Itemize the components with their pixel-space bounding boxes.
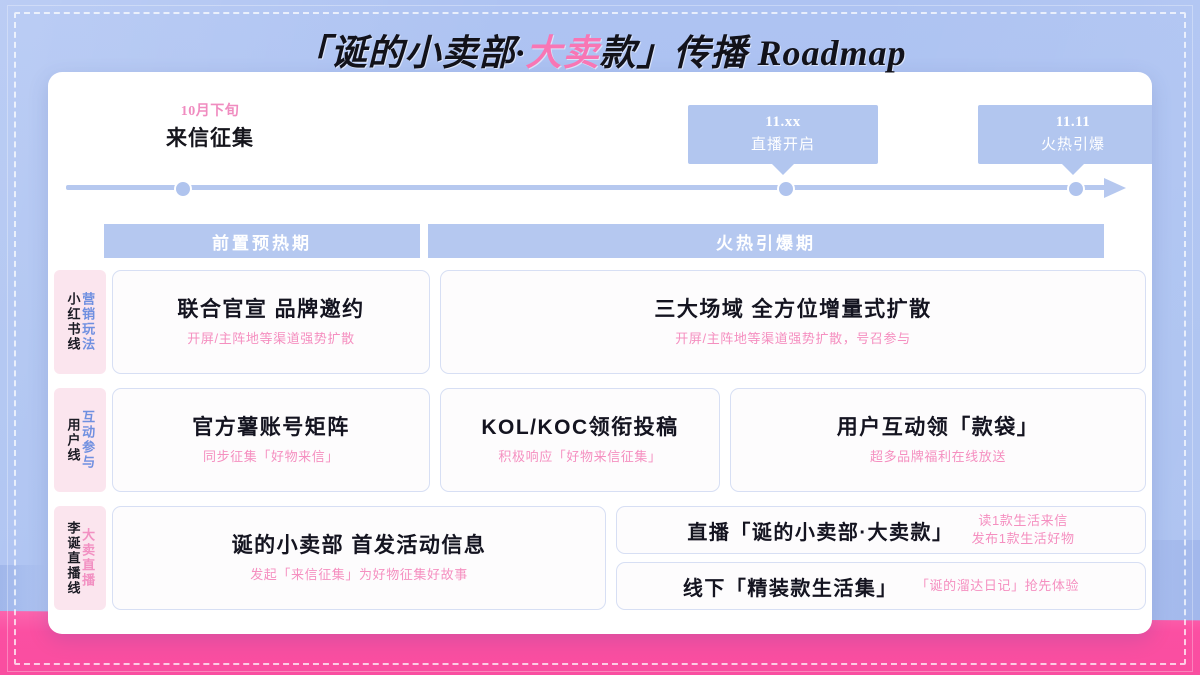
milestone-date: 10月下旬 xyxy=(110,100,310,120)
title-suffix: 款」传播 Roadmap xyxy=(600,33,907,73)
roadmap-board: 10月下旬 来信征集 11.xx 直播开启 11.11 火热引爆 前置预热期 火… xyxy=(48,72,1152,634)
row-label-color: 营销玩法 xyxy=(81,292,95,352)
milestone-label: 来信征集 xyxy=(110,122,310,152)
roadmap-card[interactable]: 联合官宣 品牌邀约 开屏/主阵地等渠道强势扩散 xyxy=(112,270,430,374)
timeline-callout-peak: 11.11 火热引爆 xyxy=(978,105,1152,164)
roadmap-row-user: 用户线 互动参与 官方薯账号矩阵 同步征集「好物来信」 KOL/KOC领衔投稿 … xyxy=(54,388,1146,492)
title-prefix: 「诞的小卖部· xyxy=(293,33,525,73)
roadmap-card[interactable]: 直播「诞的小卖部·大卖款」 读1款生活来信 发布1款生活好物 xyxy=(616,506,1146,554)
page-title: 「诞的小卖部·大卖款」传播 Roadmap xyxy=(0,24,1200,76)
callout-label: 火热引爆 xyxy=(978,133,1152,154)
timeline-node-3 xyxy=(1067,180,1085,198)
row-label-dark: 用户线 xyxy=(66,418,80,463)
card-subtitle: 「诞的溜达日记」抢先体验 xyxy=(916,577,1079,595)
timeline-axis xyxy=(66,182,1136,192)
roadmap-rows: 小红书线 营销玩法 联合官宣 品牌邀约 开屏/主阵地等渠道强势扩散 三大场域 全… xyxy=(54,270,1146,624)
row-label-xiaohongshu: 小红书线 营销玩法 xyxy=(54,270,106,374)
row-label-dark: 李诞直播线 xyxy=(66,521,80,596)
callout-date: 11.xx xyxy=(688,114,878,131)
timeline-zone: 10月下旬 来信征集 11.xx 直播开启 11.11 火热引爆 xyxy=(48,72,1152,212)
row-label-dark: 小红书线 xyxy=(66,292,80,352)
row3-stacked-cards: 直播「诞的小卖部·大卖款」 读1款生活来信 发布1款生活好物 线下「精装款生活集… xyxy=(616,506,1146,610)
row-cards: 诞的小卖部 首发活动信息 发起「来信征集」为好物征集好故事 直播「诞的小卖部·大… xyxy=(112,506,1146,610)
card-subtitle: 发起「来信征集」为好物征集好故事 xyxy=(250,564,468,583)
phase-bar-peak: 火热引爆期 xyxy=(428,224,1104,258)
card-title: 用户互动领「款袋」 xyxy=(837,415,1040,440)
row-cards: 联合官宣 品牌邀约 开屏/主阵地等渠道强势扩散 三大场域 全方位增量式扩散 开屏… xyxy=(112,270,1146,374)
card-subtitle: 同步征集「好物来信」 xyxy=(203,446,339,465)
card-title: 诞的小卖部 首发活动信息 xyxy=(232,533,487,558)
timeline-node-1 xyxy=(174,180,192,198)
callout-label: 直播开启 xyxy=(688,133,878,154)
callout-date: 11.11 xyxy=(978,114,1152,131)
roadmap-card[interactable]: KOL/KOC领衔投稿 积极响应「好物来信征集」 xyxy=(440,388,720,492)
row-label-livestream: 李诞直播线 大卖直播 xyxy=(54,506,106,610)
roadmap-card[interactable]: 官方薯账号矩阵 同步征集「好物来信」 xyxy=(112,388,430,492)
timeline-first-milestone: 10月下旬 来信征集 xyxy=(110,100,310,152)
card-subtitle: 开屏/主阵地等渠道强势扩散 xyxy=(187,328,354,347)
row-label-user: 用户线 互动参与 xyxy=(54,388,106,492)
card-title: 线下「精装款生活集」 xyxy=(683,572,898,601)
card-title: KOL/KOC领衔投稿 xyxy=(481,415,678,440)
timeline-arrow-icon xyxy=(1104,178,1126,198)
row-label-color: 大卖直播 xyxy=(81,528,95,588)
phase-bars: 前置预热期 火热引爆期 xyxy=(104,224,1104,258)
card-subtitle: 积极响应「好物来信征集」 xyxy=(498,446,661,465)
card-title: 直播「诞的小卖部·大卖款」 xyxy=(687,516,953,545)
card-subtitle-line1: 读1款生活来信 xyxy=(972,512,1075,530)
card-subtitle: 开屏/主阵地等渠道强势扩散，号召参与 xyxy=(675,328,910,347)
title-accent: 大卖 xyxy=(525,33,599,73)
roadmap-card[interactable]: 线下「精装款生活集」 「诞的溜达日记」抢先体验 xyxy=(616,562,1146,610)
row-label-color: 互动参与 xyxy=(81,410,95,470)
roadmap-row-xiaohongshu: 小红书线 营销玩法 联合官宣 品牌邀约 开屏/主阵地等渠道强势扩散 三大场域 全… xyxy=(54,270,1146,374)
timeline-node-2 xyxy=(777,180,795,198)
card-subtitle-line2: 发布1款生活好物 xyxy=(972,530,1075,548)
card-title: 三大场域 全方位增量式扩散 xyxy=(654,297,931,322)
timeline-axis-line xyxy=(66,185,1106,190)
roadmap-row-livestream: 李诞直播线 大卖直播 诞的小卖部 首发活动信息 发起「来信征集」为好物征集好故事… xyxy=(54,506,1146,610)
roadmap-card[interactable]: 诞的小卖部 首发活动信息 发起「来信征集」为好物征集好故事 xyxy=(112,506,606,610)
roadmap-card[interactable]: 用户互动领「款袋」 超多品牌福利在线放送 xyxy=(730,388,1146,492)
card-title: 官方薯账号矩阵 xyxy=(192,415,350,440)
roadmap-card[interactable]: 三大场域 全方位增量式扩散 开屏/主阵地等渠道强势扩散，号召参与 xyxy=(440,270,1146,374)
card-title: 联合官宣 品牌邀约 xyxy=(177,297,364,322)
phase-bar-preheat: 前置预热期 xyxy=(104,224,420,258)
row-cards: 官方薯账号矩阵 同步征集「好物来信」 KOL/KOC领衔投稿 积极响应「好物来信… xyxy=(112,388,1146,492)
timeline-callout-live: 11.xx 直播开启 xyxy=(688,105,878,164)
card-subtitle: 超多品牌福利在线放送 xyxy=(870,446,1006,465)
card-subtitle: 读1款生活来信 发布1款生活好物 xyxy=(972,512,1075,547)
